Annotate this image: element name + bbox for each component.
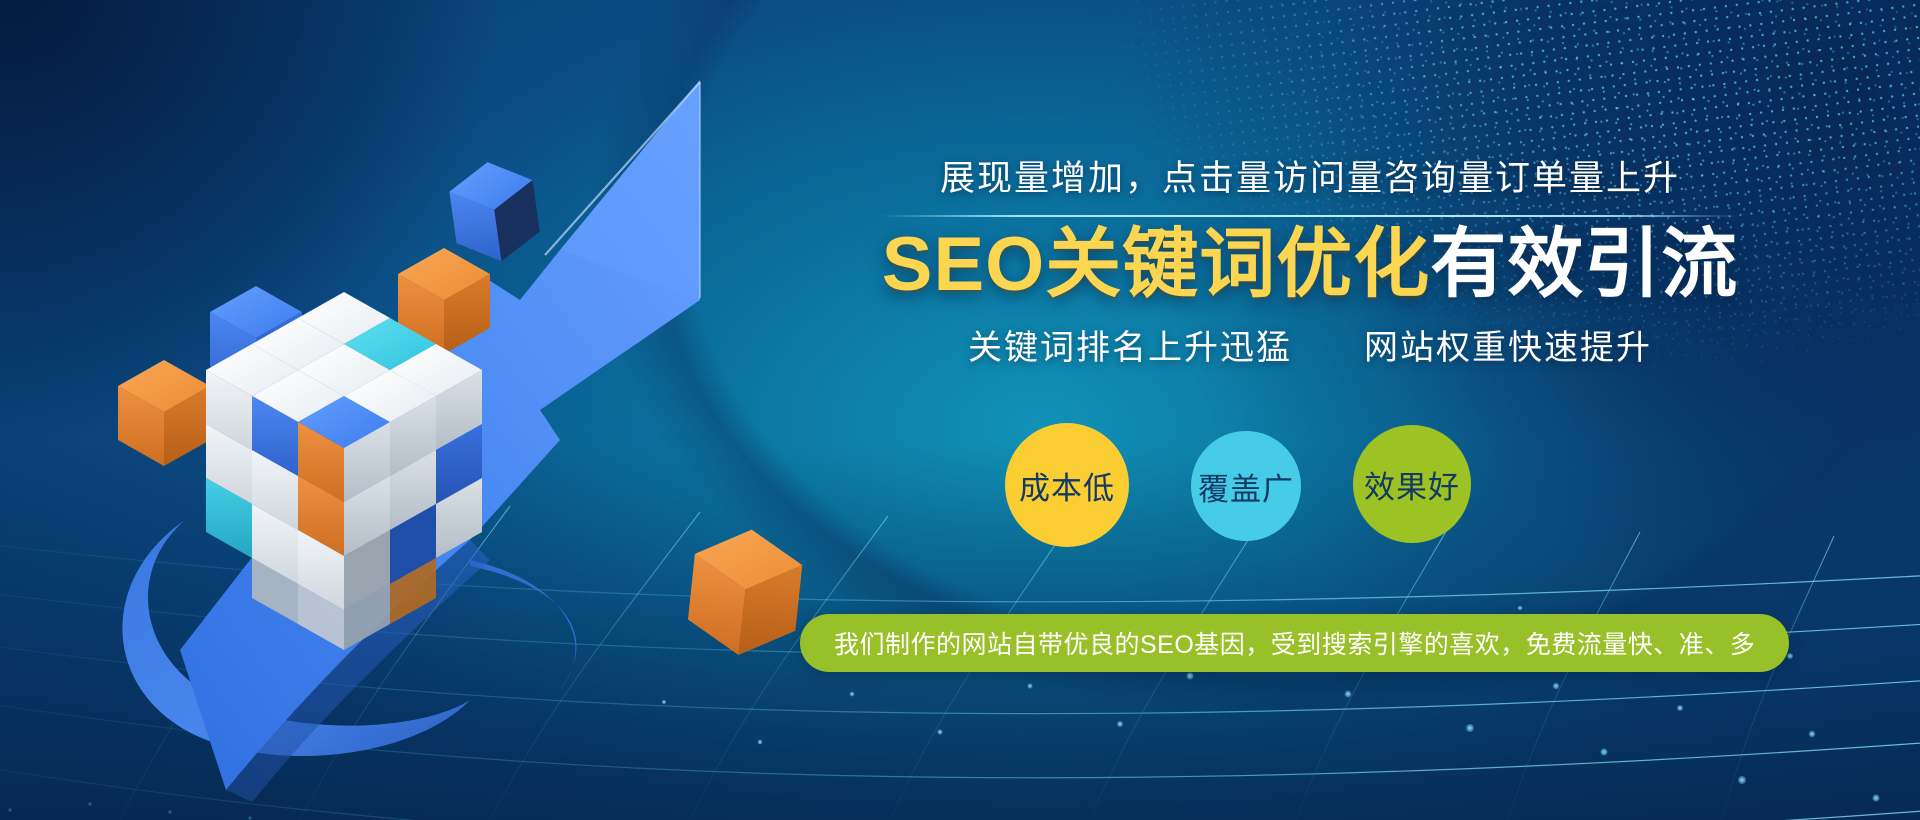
badge-cost[interactable]: 成本低 — [1005, 423, 1129, 547]
badge-coverage[interactable]: 覆盖广 — [1191, 431, 1301, 541]
badge-effect-label: 效果好 — [1364, 462, 1460, 507]
footer-pill: 我们制作的网站自带优良的SEO基因，受到搜索引擎的喜欢，免费流量快、准、多 — [800, 614, 1789, 672]
main-title-rest: 有效引流 — [1430, 222, 1738, 307]
seo-promo-banner: 展现量增加，点击量访问量咨询量订单量上升 SEO关键词优化有效引流 关键词排名上… — [0, 0, 1920, 820]
badge-group: 成本低 覆盖广 效果好 — [1005, 423, 1545, 583]
badge-coverage-label: 覆盖广 — [1198, 464, 1294, 509]
floating-cube-orange-icon — [685, 524, 806, 661]
badge-effect[interactable]: 效果好 — [1353, 425, 1471, 543]
rubiks-cube-icon — [118, 248, 490, 650]
copy-block: 展现量增加，点击量访问量咨询量订单量上升 SEO关键词优化有效引流 关键词排名上… — [880, 150, 1740, 369]
main-title: SEO关键词优化有效引流 — [880, 225, 1740, 306]
footer-pill-label: 我们制作的网站自带优良的SEO基因，受到搜索引擎的喜欢，免费流量快、准、多 — [834, 625, 1755, 661]
badge-cost-label: 成本低 — [1019, 463, 1115, 508]
floating-cube-blue-icon — [446, 156, 543, 267]
main-title-highlight: SEO关键词优化 — [882, 222, 1431, 307]
growth-illustration — [0, 0, 900, 820]
subline: 关键词排名上升迅猛 网站权重快速提升 — [880, 320, 1740, 369]
headline-top: 展现量增加，点击量访问量咨询量订单量上升 — [880, 150, 1740, 201]
divider-line — [880, 215, 1740, 217]
